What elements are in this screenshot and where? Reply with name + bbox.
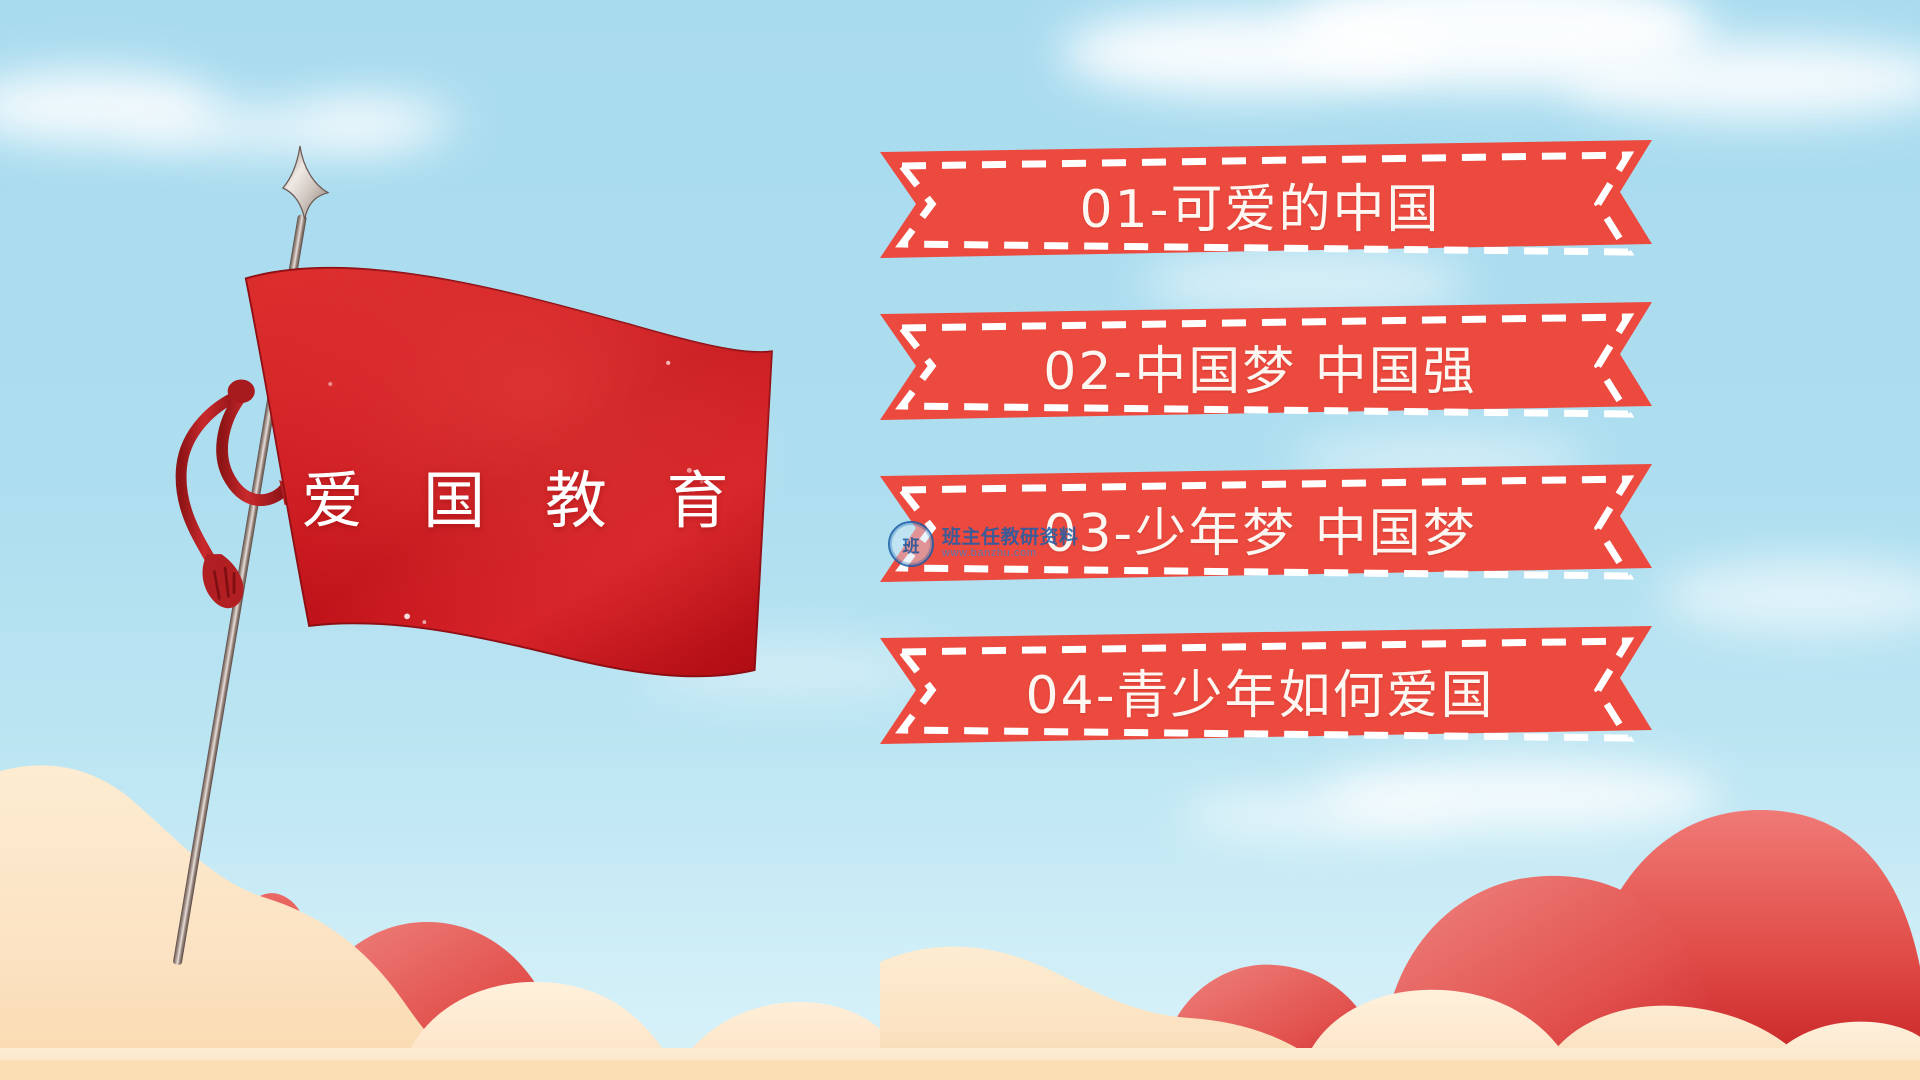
watermark-texts: 班主任教研资料 www.banzhu.com [942,528,1079,559]
banner-shape [880,626,1720,754]
flag-title: 爱 国 教 育 [265,450,785,540]
watermark-seal-icon: 班 [888,521,934,567]
watermark: 班 班主任教研资料 www.banzhu.com [888,516,1118,572]
banner-item-01[interactable]: 01-可爱的中国 [880,140,1720,268]
flag-illustration: 爱 国 教 育 [60,120,820,860]
banner-item-02[interactable]: 02-中国梦 中国强 [880,302,1720,430]
banner-shape [880,140,1720,268]
banner-item-04[interactable]: 04-青少年如何爱国 [880,626,1720,754]
banner-shape [880,302,1720,430]
watermark-title: 班主任教研资料 [942,528,1079,548]
slide-canvas: 爱 国 教 育 01-可爱的中国 02-中国梦 中国强 03-少年梦 中国梦 [0,0,1920,1080]
spear-tip-icon [272,140,342,250]
watermark-url: www.banzhu.com [942,548,1079,560]
banner-list: 01-可爱的中国 02-中国梦 中国强 03-少年梦 中国梦 04-青少年如何爱… [880,140,1740,780]
